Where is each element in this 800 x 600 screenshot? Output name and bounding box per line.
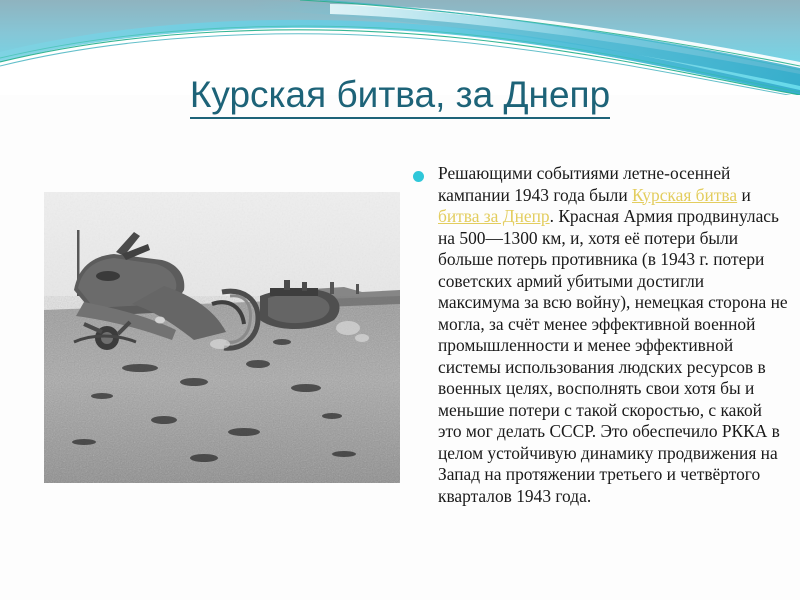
- bullet-list-item: Решающими событиями летне-осенней кампан…: [410, 163, 788, 507]
- link-kurskaya-bitva[interactable]: Курская битва: [632, 185, 737, 205]
- wrecked-aircraft-photo-svg: [44, 192, 400, 483]
- paragraph-segment-2: и: [737, 185, 751, 205]
- paragraph-segment-3: . Красная Армия продвинулась на 500—1300…: [438, 206, 788, 506]
- body-paragraph: Решающими событиями летне-осенней кампан…: [438, 163, 788, 507]
- content-text-block: Решающими событиями летне-осенней кампан…: [410, 163, 788, 507]
- slide-title-text: Курская битва, за Днепр: [190, 74, 610, 119]
- historical-photo: [44, 192, 400, 483]
- presentation-slide: Курская битва, за Днепр: [0, 0, 800, 600]
- bullet-point-icon: [413, 171, 424, 182]
- link-bitva-za-dnepr[interactable]: битва за Днепр: [438, 206, 550, 226]
- slide-title: Курская битва, за Днепр: [0, 74, 800, 116]
